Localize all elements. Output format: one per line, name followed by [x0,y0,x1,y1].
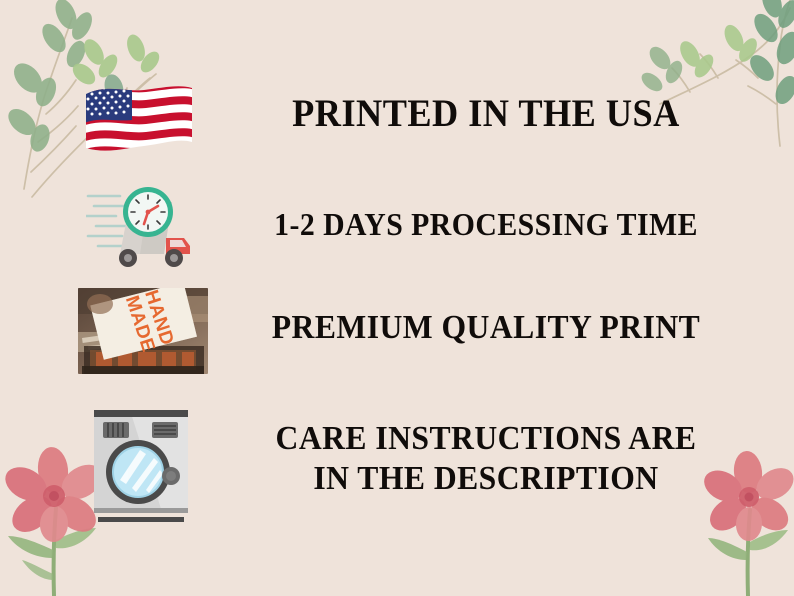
usa-flag-icon [82,82,196,160]
washing-machine-icon [86,396,196,524]
feature-text-printed-in-usa: PRINTED IN THE USA [244,93,728,135]
screen-printing-photo: HAND MADE [78,288,208,374]
feature-text-premium-quality: PREMIUM QUALITY PRINT [244,310,728,347]
fast-shipping-truck-clock-icon [86,182,206,274]
feature-text-processing-time: 1-2 DAYS PROCESSING TIME [244,207,728,242]
info-graphic-canvas: PRINTED IN THE USA [0,0,794,596]
eucalyptus-branch-top-right-icon [630,0,794,176]
feature-text-care-instructions: CARE INSTRUCTIONS ARE IN THE DESCRIPTION [244,419,728,499]
